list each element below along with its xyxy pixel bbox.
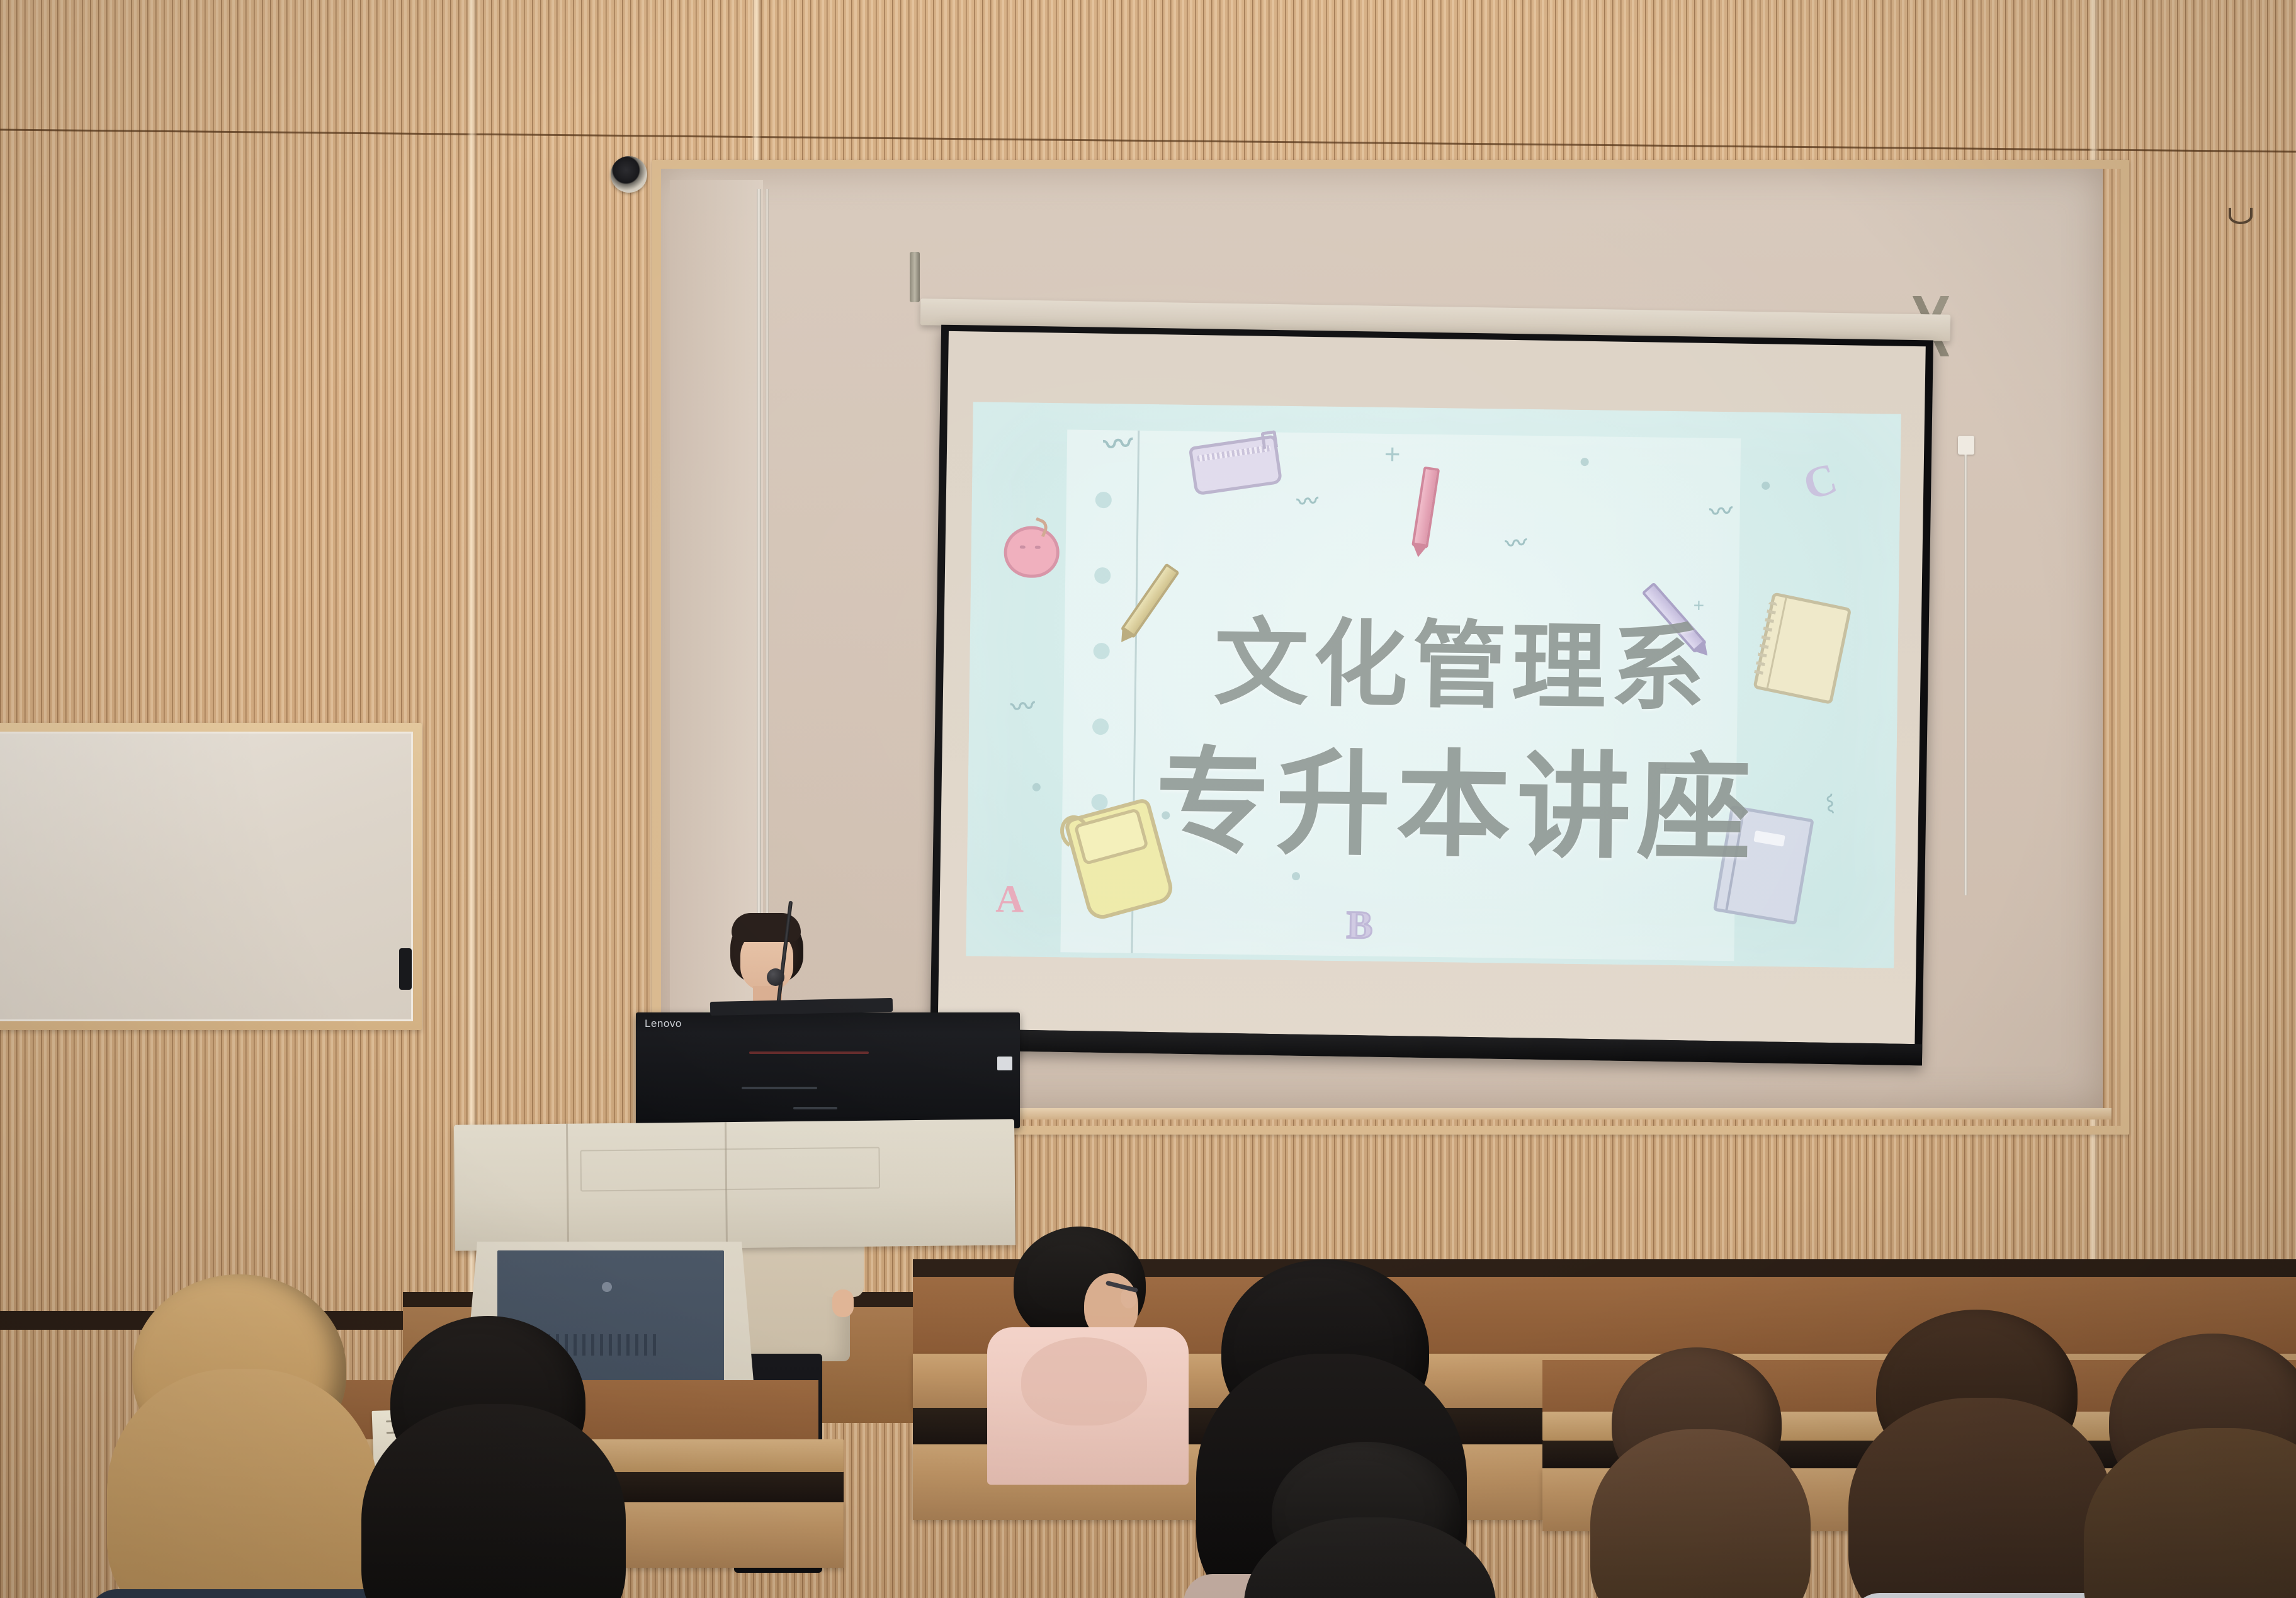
power-outlet-icon xyxy=(1958,436,1974,455)
whiteboard-frame xyxy=(0,723,422,1030)
paper-punch-hole xyxy=(1094,567,1111,584)
dot-decoration xyxy=(1581,458,1589,466)
notebook-icon xyxy=(1753,592,1852,705)
squiggle-decoration: 〰 xyxy=(1816,793,1846,814)
plus-sparkle-decoration: + xyxy=(1384,439,1400,470)
presenter-hand xyxy=(832,1289,854,1317)
monitor-badge-icon xyxy=(997,1057,1012,1070)
attendee-hair-length xyxy=(1590,1429,1811,1598)
letter-b-decoration: B xyxy=(1347,903,1373,948)
letter-a-decoration: A xyxy=(995,877,1024,922)
slide-title-line-1: 文化管理系 xyxy=(1213,586,1711,729)
slide-title-line-2: 专升本讲座 xyxy=(1155,709,1758,882)
projected-slide: 〰 〰 〰 〰 〰 〰 + + + A B C 文化管理系 专升本讲座 xyxy=(966,402,1901,968)
squiggle-decoration: 〰 xyxy=(1708,492,1734,527)
monitor-screen-line xyxy=(793,1107,837,1109)
lecture-hall-photo: 〰 〰 〰 〰 〰 〰 + + + A B C 文化管理系 专升本讲座 xyxy=(0,0,2296,1598)
monitor-brand-label: Lenovo xyxy=(645,1017,682,1030)
power-cable xyxy=(1964,455,1967,895)
ceiling-speaker-icon xyxy=(611,156,647,193)
lectern-knob xyxy=(602,1282,612,1292)
lectern-monitor[interactable]: Lenovo xyxy=(636,1012,1020,1128)
microphone-head-icon xyxy=(767,968,784,986)
apple-icon xyxy=(1004,526,1060,578)
letter-c-decoration: C xyxy=(1798,453,1843,511)
monitor-screen-line xyxy=(749,1051,869,1054)
squiggle-decoration: 〰 xyxy=(1504,525,1528,558)
dot-decoration xyxy=(1032,783,1041,791)
lectern-top[interactable] xyxy=(454,1119,1015,1250)
whiteboard[interactable] xyxy=(0,732,413,1021)
attendee-hood xyxy=(1021,1337,1147,1425)
squiggle-decoration: 〰 xyxy=(1102,420,1134,464)
squiggle-decoration: 〰 xyxy=(1009,686,1036,723)
dot-decoration xyxy=(1762,482,1770,490)
screen-mount-bracket-left xyxy=(910,252,920,302)
squiggle-decoration: 〰 xyxy=(1296,484,1320,516)
monitor-screen-line xyxy=(742,1087,817,1089)
whiteboard-marker[interactable] xyxy=(399,948,412,990)
attendee-torso xyxy=(1851,1593,2115,1598)
attendee-hair-length xyxy=(107,1369,378,1598)
attendee-hair-length xyxy=(1848,1398,2113,1598)
wall-hook-icon xyxy=(2229,208,2253,224)
